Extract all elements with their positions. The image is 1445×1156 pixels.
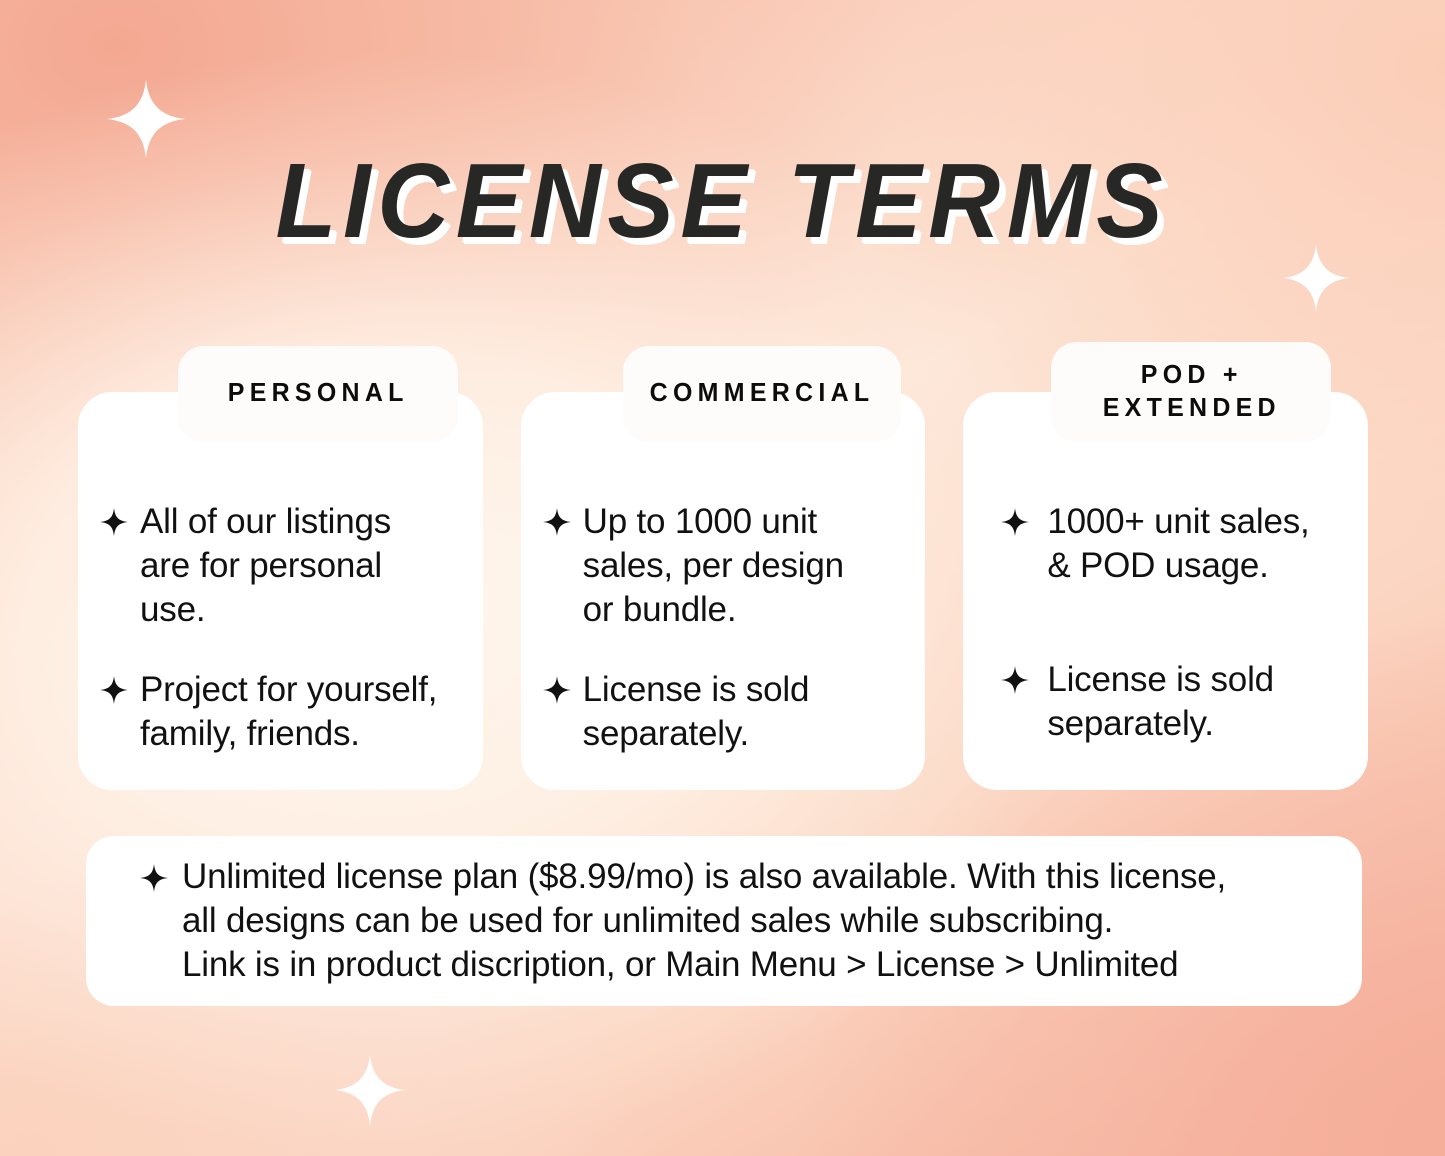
card-header-pod-extended: POD + EXTENDED [1051,342,1331,442]
sparkle-star-icon [543,508,571,541]
license-terms-poster: LICENSE TERMS PERSONAL All of our listin… [0,0,1445,1156]
list-item-text: License is sold separately. [583,668,810,756]
list-item: 1000+ unit sales, & POD usage. [1001,500,1346,588]
card-header-label: PERSONAL [228,376,409,409]
sparkle-star-icon [1001,508,1029,541]
license-card-commercial: COMMERCIAL Up to 1000 unit sales, per de… [521,392,926,790]
list-item: License is sold separately. [543,668,904,756]
card-header-commercial: COMMERCIAL [623,346,901,442]
page-title-wrap: LICENSE TERMS [0,148,1445,254]
sparkle-star-icon [140,864,168,897]
license-cards: PERSONAL All of our listings are for per… [78,392,1368,790]
sparkle-bottom-left-icon [333,1053,407,1127]
sparkle-star-icon [100,676,128,709]
unlimited-plan-content: Unlimited license plan ($8.99/mo) is als… [140,855,1226,987]
bullet-list-personal: All of our listings are for personal use… [100,500,461,756]
list-item: Up to 1000 unit sales, per design or bun… [543,500,904,632]
list-item: License is sold separately. [1001,658,1346,746]
unlimited-plan-text: Unlimited license plan ($8.99/mo) is als… [182,855,1226,987]
page-title: LICENSE TERMS [276,148,1170,254]
sparkle-star-icon [1001,666,1029,699]
bullet-list-pod-extended: 1000+ unit sales, & POD usage. License i… [985,500,1346,746]
list-item-text: 1000+ unit sales, & POD usage. [1041,500,1309,588]
card-header-label: COMMERCIAL [649,376,874,409]
card-header-label: POD + EXTENDED [1102,358,1280,425]
list-item-text: License is sold separately. [1041,658,1274,746]
bullet-list-commercial: Up to 1000 unit sales, per design or bun… [543,500,904,756]
list-item: All of our listings are for personal use… [100,500,461,632]
license-card-pod-extended: POD + EXTENDED 1000+ unit sales, & POD u… [963,392,1368,790]
list-item-text: Up to 1000 unit sales, per design or bun… [583,500,844,632]
list-item-text: Project for yourself, family, friends. [140,668,437,756]
sparkle-star-icon [100,508,128,541]
unlimited-plan-banner: Unlimited license plan ($8.99/mo) is als… [86,836,1362,1006]
card-header-personal: PERSONAL [178,346,458,442]
sparkle-star-icon [543,676,571,709]
list-item-text: All of our listings are for personal use… [140,500,391,632]
list-item: Project for yourself, family, friends. [100,668,461,756]
license-card-personal: PERSONAL All of our listings are for per… [78,392,483,790]
